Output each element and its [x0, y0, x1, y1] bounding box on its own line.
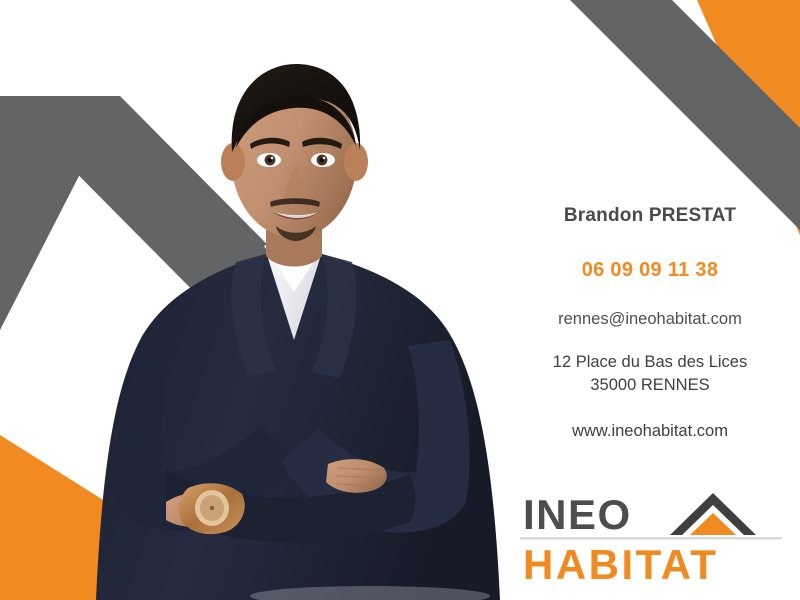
postal-address: 12 Place du Bas des Lices 35000 RENNES [553, 351, 747, 396]
portrait-svg [70, 40, 540, 600]
logo-text-ineo: INEO [523, 491, 632, 538]
house-roof-icon [670, 493, 756, 535]
head [221, 64, 368, 241]
person-name: Brandon PRESTAT [564, 205, 736, 228]
logo-svg: INEO HABITAT [520, 487, 782, 587]
portrait-photo [70, 40, 540, 600]
logo-divider [520, 537, 782, 540]
email-address[interactable]: rennes@ineohabitat.com [558, 309, 742, 330]
logo-text-habitat: HABITAT [523, 541, 719, 587]
phone-number[interactable]: 06 09 09 11 38 [582, 258, 719, 282]
address-line-1: 12 Place du Bas des Lices [553, 351, 747, 373]
ineo-habitat-logo[interactable]: INEO HABITAT [520, 487, 782, 587]
website-url[interactable]: www.ineohabitat.com [572, 421, 728, 442]
wristwatch [179, 483, 245, 534]
address-line-2: 35000 RENNES [553, 374, 747, 396]
business-card: Brandon PRESTAT 06 09 09 11 38 rennes@in… [0, 0, 800, 600]
